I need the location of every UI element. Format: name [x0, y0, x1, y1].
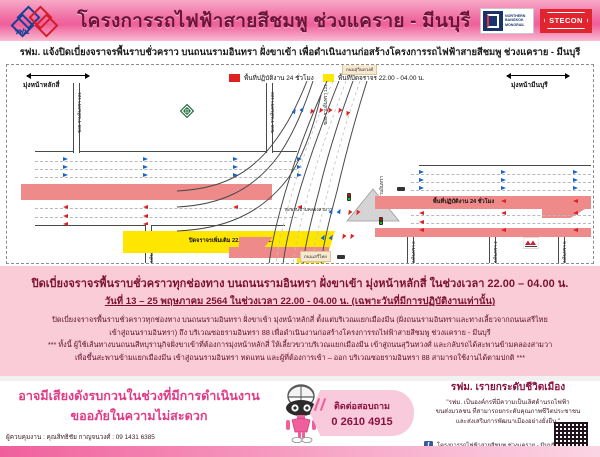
- mrta-quote-2: ขนส่งมวลชน ที่สามารถยกระดับคุณภาพชีวิตปร…: [420, 407, 596, 416]
- traffic-arrow-blue: [501, 186, 506, 190]
- traffic-arrow-red: [63, 214, 68, 218]
- map-direction-right: มุ่งหน้ามีนบุรี: [511, 79, 548, 90]
- traffic-light-icon: [379, 217, 383, 225]
- header-subtitle: รฟม. แจ้งปิดเบี่ยงจราจรพื้นราบชั่วคราว บ…: [0, 41, 600, 64]
- notice-block: ปิดเบี่ยงจราจรพื้นราบชั่วคราวทุกช่องทาง …: [0, 266, 600, 376]
- traffic-arrow-blue: [501, 178, 506, 182]
- stecon-logo-text: STECON: [549, 16, 583, 25]
- northern-bangkok-monorail-logo: NORTHERN BANGKOK MONORAIL: [480, 8, 534, 34]
- traffic-arrow-red: [419, 211, 424, 215]
- mrta-slogan-block: รฟม. เรายกระดับชีวิตเมือง "รฟม. เป็นองค์…: [420, 380, 596, 426]
- traffic-arrow-blue: [419, 170, 424, 174]
- lane-dash-r3: [411, 190, 591, 191]
- soi-label: ซอย รามอินทรา 121: [77, 92, 84, 133]
- header-bar: รฟม. โครงการรถไฟฟ้าสายสีชมพู ช่วงแคราย -…: [0, 0, 600, 43]
- red-zone-label-24h: พื้นที่ปฏิบัติงาน 24 ชั่วโมง: [433, 198, 494, 206]
- traffic-arrow-red: [143, 205, 148, 209]
- nbm-mark-icon: [483, 11, 503, 31]
- nbm-logo-text: NORTHERN BANGKOK MONORAIL: [505, 14, 531, 27]
- lane-dash-r2: [411, 182, 591, 183]
- traffic-arrow-red: [419, 228, 424, 232]
- soi-label: ซอย รามอินทรา 2: [411, 241, 418, 264]
- traffic-light-icon: [337, 255, 345, 259]
- callout-slashes-icon: [316, 398, 330, 428]
- notice-dates: วันที่ 13 – 25 พฤษภาคม 2564 ในช่วงเวลา 2…: [0, 294, 600, 309]
- notice-paragraph-4: เพื่อขึ้นสะพานข้ามแยกเมืองมีน เข้าสู่ถนน…: [0, 352, 600, 365]
- traffic-arrow-blue: [573, 186, 578, 190]
- traffic-arrow-blue: [501, 170, 506, 174]
- lane-dash-r4: [411, 215, 591, 216]
- soi-label: ซอย รามอินทรา 6: [562, 241, 569, 264]
- road-edge-top-right: [419, 165, 591, 166]
- traffic-arrow-blue: [143, 173, 148, 177]
- traffic-map: มุ่งหน้าหลักสี่ มุ่งหน้ามีนบุรี พื้นที่ป…: [6, 64, 594, 264]
- apology-line-1: อาจมีเสียงดังรบกวนในช่วงที่มีการดำเนินงา…: [8, 386, 270, 406]
- place-box-seri-thai: ถนนเสรีไทย: [300, 251, 331, 262]
- contact-label: ติดต่อสอบถาม: [334, 399, 390, 413]
- notice-paragraph-1: ปิดเบี่ยงจราจรพื้นราบชั่วคราวทุกช่องทาง …: [0, 314, 600, 327]
- poster-root: รฟม. โครงการรถไฟฟ้าสายสีชมพู ช่วงแคราย -…: [0, 0, 600, 457]
- apology-line-2: ขออภัยในความไม่สะดวก: [8, 406, 270, 426]
- traffic-arrow-blue: [573, 178, 578, 182]
- bridge-label: สะพานข้ามคลองสามวา: [285, 207, 332, 214]
- contact-phone[interactable]: 0 2610 4915: [331, 416, 392, 428]
- footer-block: อาจมีเสียงดังรบกวนในช่วงที่มีการดำเนินงา…: [0, 376, 600, 457]
- mrta-logo-text: รฟม.: [14, 25, 29, 38]
- soi-label: ซอย รามอินทรา 121: [323, 84, 330, 125]
- soi-label: ซอย รามอินทรา 4: [493, 241, 500, 264]
- traffic-arrow-blue: [143, 165, 148, 169]
- station-marker-icon: [523, 237, 539, 249]
- notice-headline: ปิดเบี่ยงจราจรพื้นราบชั่วคราวทุกช่องทาง …: [0, 274, 600, 292]
- stecon-logo: STECON: [540, 9, 592, 33]
- notice-paragraph-3: *** ทั้งนี้ ผู้ใช้เส้นทางบนถนนสีหบุรานุก…: [0, 339, 600, 352]
- page-title: โครงการรถไฟฟ้าสายสีชมพู ช่วงแคราย - มีนบ…: [68, 6, 480, 36]
- traffic-arrow-red: [63, 222, 68, 226]
- traffic-arrow-red: [501, 199, 506, 203]
- traffic-arrow-red: [501, 211, 506, 215]
- traffic-arrow-red: [573, 228, 578, 232]
- traffic-light-icon: [397, 187, 405, 191]
- direction-arrow-left: [27, 75, 89, 76]
- traffic-light-icon: [347, 193, 351, 201]
- traffic-arrow-red: [501, 228, 506, 232]
- traffic-arrow-red: [143, 214, 148, 218]
- contact-callout[interactable]: ติดต่อสอบถาม 0 2610 4915: [310, 390, 414, 436]
- traffic-arrow-blue: [63, 157, 68, 161]
- traffic-arrow-blue: [419, 186, 424, 190]
- traffic-arrow-blue: [419, 178, 424, 182]
- mrta-slogan: รฟม. เรายกระดับชีวิตเมือง: [420, 380, 596, 395]
- notice-paragraph-2: เข้าสู่ถนนรามอินทรา) ถึง บริเวณซอยรามอิน…: [0, 327, 600, 340]
- lane-dash-r5: [411, 223, 591, 224]
- traffic-arrow-red: [63, 205, 68, 209]
- mrta-logo: รฟม.: [6, 5, 68, 37]
- traffic-arrow-red: [419, 220, 424, 224]
- supervisor-credit: ผู้ควบคุมงาน : คุณสิทธิชัย กาญจนวงศ์ : 0…: [6, 432, 155, 442]
- mrta-quote-1: "รฟม. เป็นองค์กรที่มีความเป็นเลิศด้านรถไ…: [420, 398, 596, 407]
- traffic-arrow-blue: [573, 170, 578, 174]
- lane-dash-r1: [411, 174, 591, 175]
- red-zone-right-lower: [375, 228, 591, 237]
- traffic-arrow-blue: [63, 173, 68, 177]
- footer-gradient-bar: [0, 446, 600, 457]
- traffic-arrow-blue: [63, 165, 68, 169]
- partner-logos: NORTHERN BANGKOK MONORAIL STECON: [480, 8, 592, 34]
- place-box-suwinthawong: ถนนสุวินทวงศ์: [342, 64, 377, 75]
- traffic-arrow-blue: [143, 157, 148, 161]
- apology-message: อาจมีเสียงดังรบกวนในช่วงที่มีการดำเนินงา…: [8, 386, 270, 426]
- traffic-arrow-red: [573, 211, 578, 215]
- direction-arrow-right: [507, 75, 569, 76]
- map-direction-left: มุ่งหน้าหลักสี่: [23, 79, 60, 90]
- traffic-arrow-red: [573, 199, 578, 203]
